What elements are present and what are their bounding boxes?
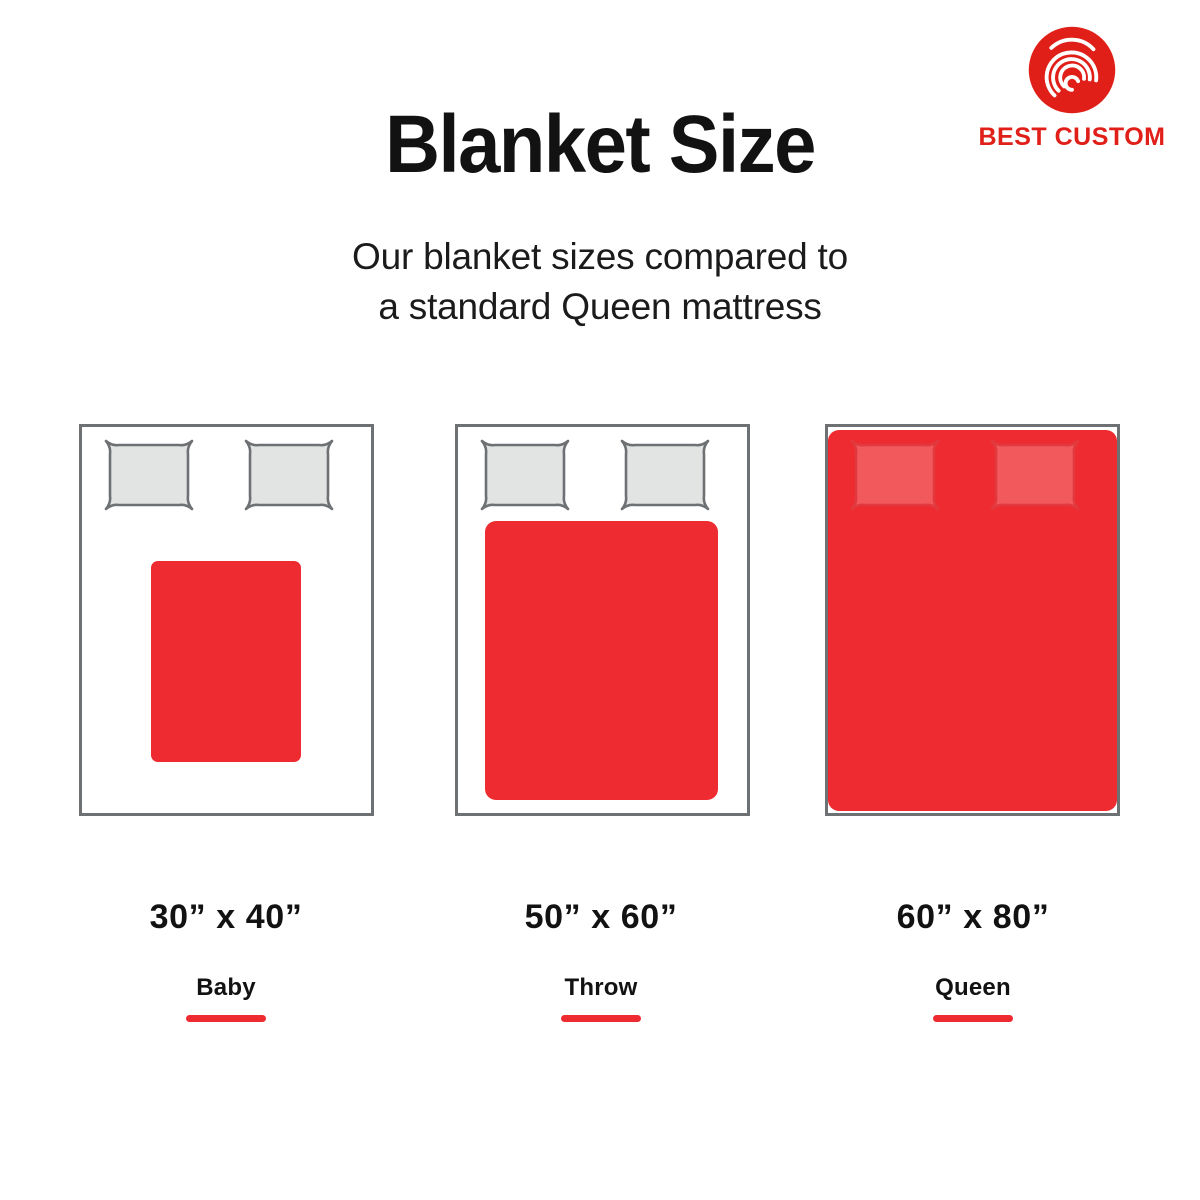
page-subtitle: Our blanket sizes compared to a standard… bbox=[0, 232, 1200, 331]
caption-dimensions: 30” x 40” bbox=[46, 900, 406, 934]
subtitle-line-2: a standard Queen mattress bbox=[0, 282, 1200, 332]
caption-underline bbox=[933, 1015, 1013, 1022]
caption-label: Throw bbox=[421, 976, 781, 1000]
caption-underline bbox=[561, 1015, 641, 1022]
bed-diagram-queen bbox=[825, 424, 1120, 816]
blanket-size-infographic: BEST CUSTOM Blanket Size Our blanket siz… bbox=[0, 0, 1200, 1200]
bed-diagram-baby bbox=[79, 424, 374, 816]
page-title: Blanket Size bbox=[0, 104, 1200, 186]
pillow-icon bbox=[852, 441, 938, 509]
caption-dimensions: 60” x 80” bbox=[793, 900, 1153, 934]
bed-diagram-throw bbox=[455, 424, 750, 816]
caption-label: Queen bbox=[793, 976, 1153, 1000]
caption-label: Baby bbox=[46, 976, 406, 1000]
blanket-shape bbox=[151, 561, 301, 762]
caption-queen: 60” x 80” Queen bbox=[793, 900, 1153, 1022]
caption-throw: 50” x 60” Throw bbox=[421, 900, 781, 1022]
caption-baby: 30” x 40” Baby bbox=[46, 900, 406, 1022]
bed-diagram-row bbox=[0, 424, 1200, 824]
fingerprint-icon bbox=[1026, 24, 1118, 116]
pillow-icon bbox=[622, 441, 708, 509]
pillow-icon bbox=[482, 441, 568, 509]
pillow-icon bbox=[992, 441, 1078, 509]
caption-row: 30” x 40” Baby 50” x 60” Throw 60” x 80”… bbox=[0, 900, 1200, 1060]
pillow-icon bbox=[246, 441, 332, 509]
caption-dimensions: 50” x 60” bbox=[421, 900, 781, 934]
subtitle-line-1: Our blanket sizes compared to bbox=[0, 232, 1200, 282]
blanket-shape bbox=[485, 521, 718, 800]
pillow-icon bbox=[106, 441, 192, 509]
caption-underline bbox=[186, 1015, 266, 1022]
